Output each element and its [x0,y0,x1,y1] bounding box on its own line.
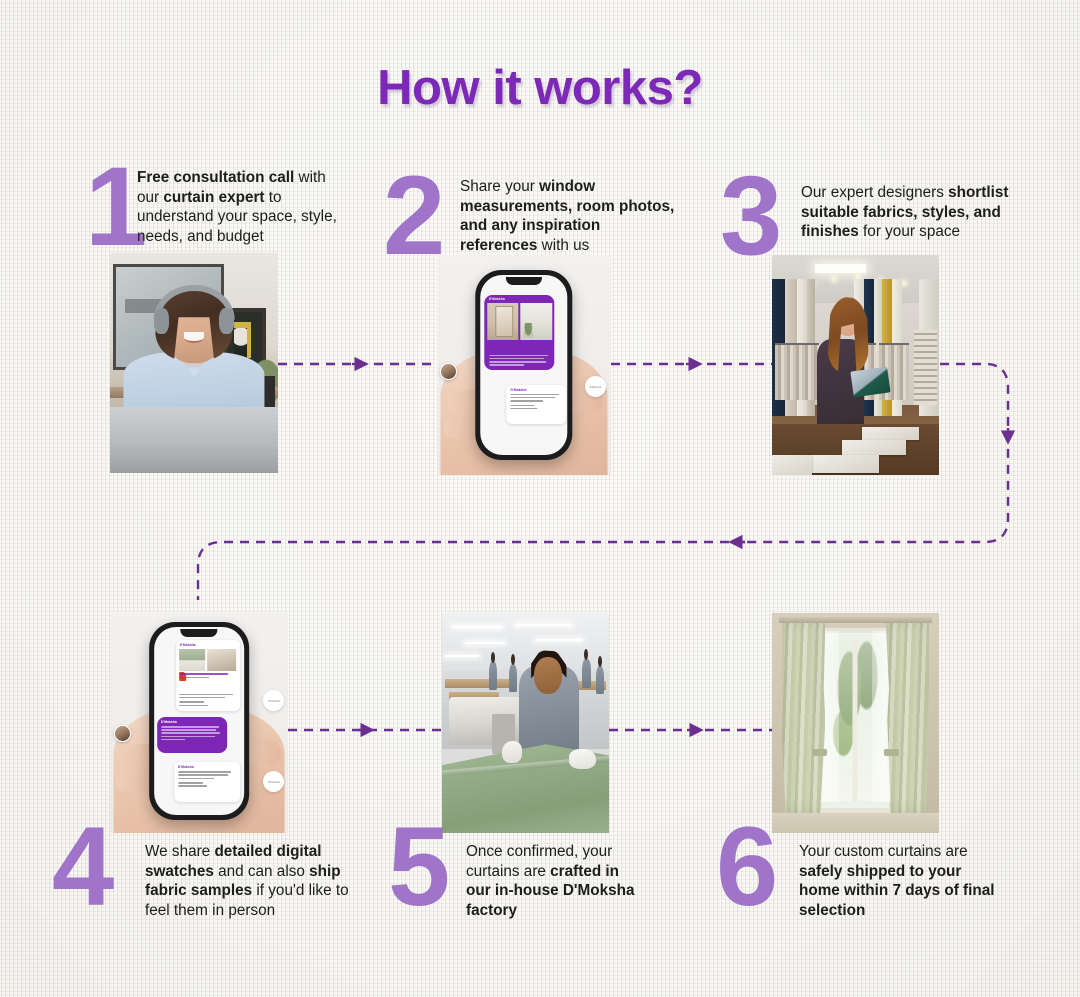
step-6-number: 6 [716,823,774,910]
step-4-number: 4 [52,823,110,910]
step-2-number: 2 [383,172,441,259]
phone-chat-digital-swatches: D'Moksha [110,613,288,833]
page-title: How it works? [0,60,1080,116]
brand-logo-chip: D'Moksha [585,376,606,397]
step-3-text: Our expert designers shortlist suitable … [801,183,1033,242]
chat-sender-label-top: D'Moksha [180,643,237,647]
step-2-text: Share your window measurements, room pho… [460,177,678,255]
step-3-number: 3 [720,172,778,259]
phone-chat-sharing-window-photos: D'Moksha D'Moksha [437,255,611,475]
avatar [114,725,131,742]
step-6-text: Your custom curtains are safely shipped … [799,842,999,920]
finished-curtains-installed [772,613,939,833]
designer-showroom-fabric-selection [772,255,939,475]
chat-sender-label-user: D'Moksha [161,720,223,724]
chat-sender-label-2: D'Moksha [511,388,562,392]
step-5-number: 5 [388,823,446,910]
chat-sender-label: D'Moksha [489,297,505,301]
step-5-text: Once confirmed, your curtains are crafte… [466,842,646,920]
factory-sewing-curtains [442,613,609,833]
step-1-text: Free consultation call with our curtain … [137,168,345,246]
step-1-number: 1 [85,163,143,250]
video-consultation-call-photo [110,253,278,473]
step-4-text: We share detailed digital swatches and c… [145,842,357,920]
chat-sender-label-bottom: D'Moksha [178,765,236,769]
